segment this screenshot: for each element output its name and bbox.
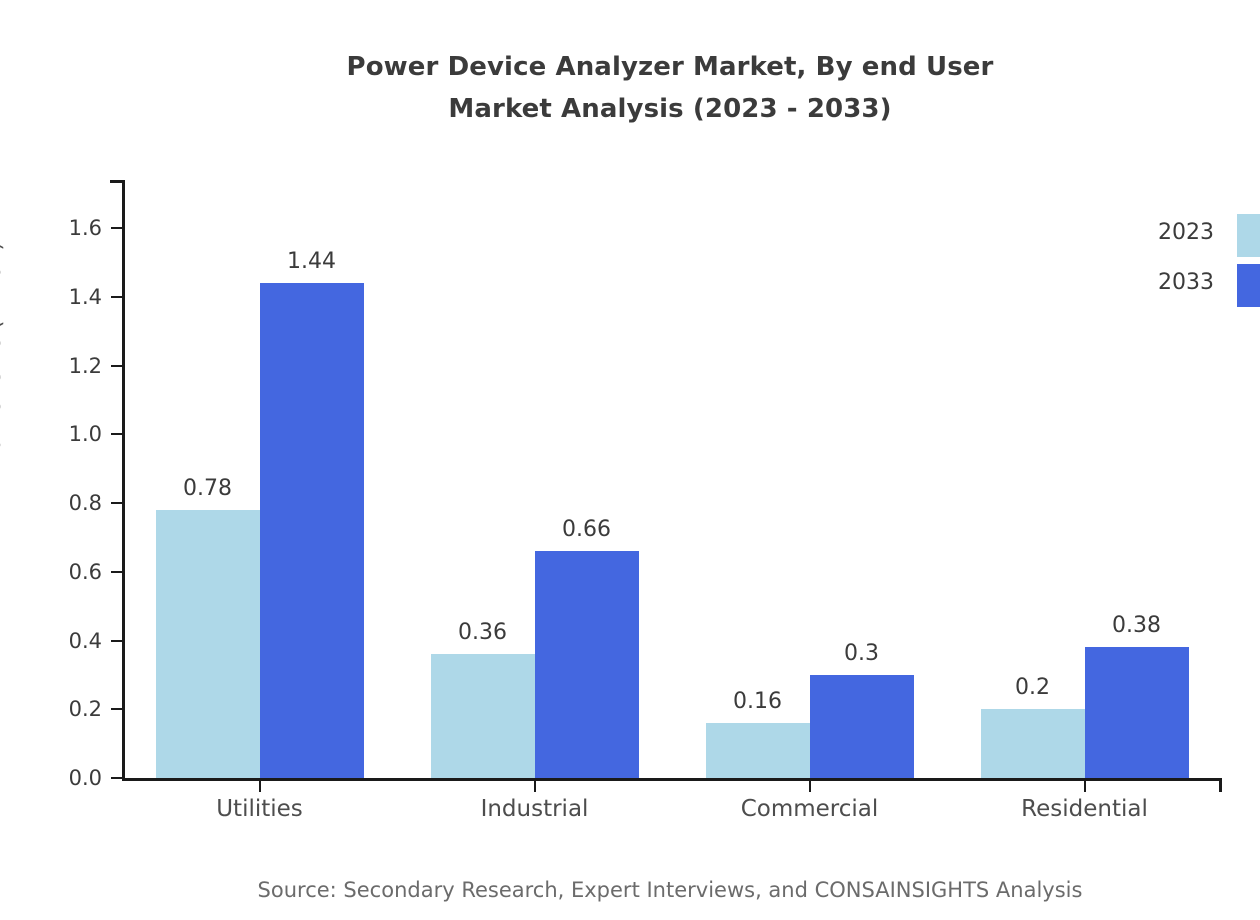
bar-value-label: 1.44 (287, 249, 336, 274)
y-tick-label: 0.2 (69, 697, 102, 721)
chart-title-line-2: Market Analysis (2023 - 2033) (0, 88, 1260, 130)
legend-label-2033: 2033 (1158, 270, 1214, 295)
y-tick: 0.4 (111, 640, 122, 642)
x-axis-right-cap (1219, 778, 1222, 792)
legend-item-2023[interactable]: 2023 (1130, 214, 1260, 264)
bar-utilities-2023[interactable]: 0.78 (156, 510, 260, 778)
x-tick-label-residential: Residential (1021, 796, 1148, 822)
y-tick-label: 0.8 (69, 491, 102, 515)
y-tick: 1.6 (111, 227, 122, 229)
x-tick (1084, 781, 1086, 792)
y-tick-label: 0.0 (69, 766, 102, 790)
y-tick: 1.0 (111, 433, 122, 435)
plot-area: 0.00.20.40.60.81.01.21.41.6 UtilitiesInd… (122, 180, 1222, 781)
bar-value-label: 0.36 (458, 620, 507, 645)
y-tick: 0.0 (111, 777, 122, 779)
y-tick: 1.2 (111, 365, 122, 367)
legend-label-2023: 2023 (1158, 220, 1214, 245)
y-tick-label: 0.4 (69, 629, 102, 653)
bar-industrial-2033[interactable]: 0.66 (535, 551, 639, 778)
x-tick (809, 781, 811, 792)
y-tick: 0.2 (111, 708, 122, 710)
y-tick: 0.8 (111, 502, 122, 504)
x-tick (534, 781, 536, 792)
bar-residential-2033[interactable]: 0.38 (1085, 647, 1189, 778)
y-tick: 1.4 (111, 296, 122, 298)
bar-value-label: 0.3 (844, 641, 879, 666)
bar-value-label: 0.78 (183, 476, 232, 501)
x-axis-spine (122, 778, 1222, 781)
x-tick-label-utilities: Utilities (216, 796, 303, 822)
chart-title-line-1: Power Device Analyzer Market, By end Use… (0, 46, 1260, 88)
bar-chart: Power Device Analyzer Market, By end Use… (0, 0, 1260, 920)
bar-utilities-2033[interactable]: 1.44 (260, 283, 364, 778)
chart-legend: 2023 2033 (1130, 214, 1260, 314)
y-tick: 0.6 (111, 571, 122, 573)
y-tick-label: 1.4 (69, 285, 102, 309)
bar-commercial-2033[interactable]: 0.3 (810, 675, 914, 778)
bar-value-label: 0.66 (562, 517, 611, 542)
x-tick-label-industrial: Industrial (481, 796, 589, 822)
x-tick (259, 781, 261, 792)
x-tick-label-commercial: Commercial (741, 796, 879, 822)
y-axis-title: Market Size (Billion) (0, 156, 6, 556)
bar-industrial-2023[interactable]: 0.36 (431, 654, 535, 778)
bar-value-label: 0.16 (733, 689, 782, 714)
y-tick-label: 1.6 (69, 216, 102, 240)
legend-swatch-2023 (1237, 214, 1260, 257)
bar-residential-2023[interactable]: 0.2 (981, 709, 1085, 778)
bar-value-label: 0.2 (1015, 675, 1050, 700)
y-axis-top-cap (110, 180, 125, 183)
y-axis-spine (122, 180, 125, 781)
y-tick-label: 1.2 (69, 354, 102, 378)
chart-title: Power Device Analyzer Market, By end Use… (0, 46, 1260, 130)
legend-swatch-2033 (1237, 264, 1260, 307)
bar-value-label: 0.38 (1112, 613, 1161, 638)
legend-item-2033[interactable]: 2033 (1130, 264, 1260, 314)
bar-commercial-2023[interactable]: 0.16 (706, 723, 810, 778)
y-tick-label: 1.0 (69, 422, 102, 446)
source-note: Source: Secondary Research, Expert Inter… (0, 878, 1260, 902)
y-tick-label: 0.6 (69, 560, 102, 584)
